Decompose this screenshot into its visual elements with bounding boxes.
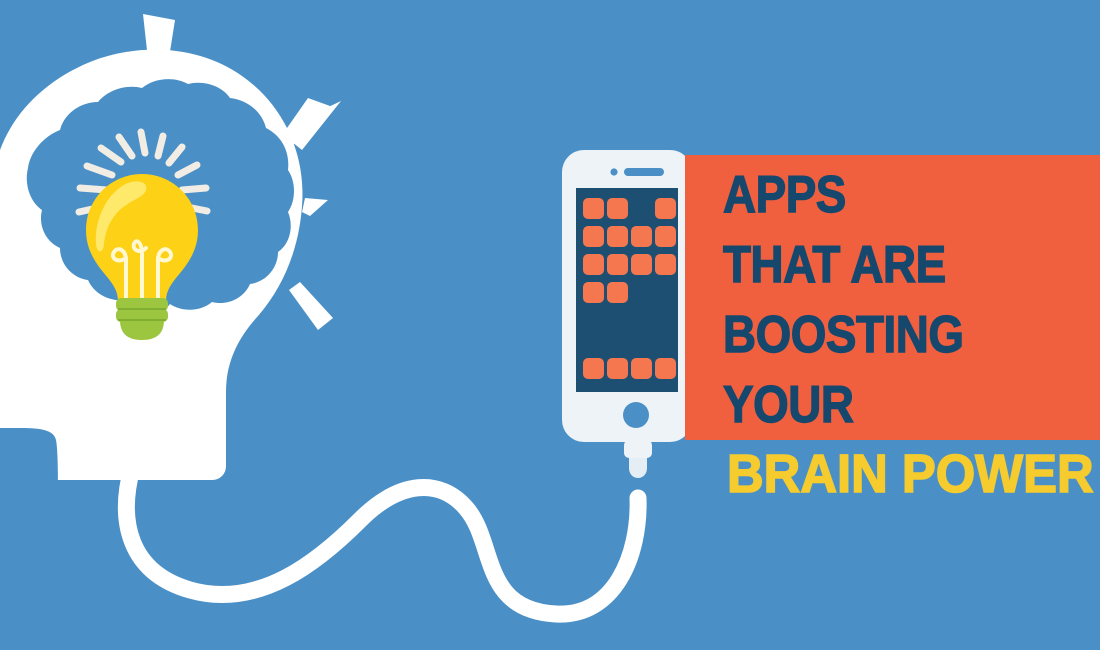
spark-ray-upper-right (280, 98, 330, 148)
app-icon[interactable] (583, 226, 604, 247)
headline-line-3: BOOSTING (723, 300, 1057, 370)
spark-ray-lower-right (289, 282, 333, 330)
app-icon-grid[interactable] (583, 198, 676, 303)
app-icon[interactable] (607, 226, 628, 247)
app-dock[interactable] (583, 358, 676, 379)
phone-body[interactable] (562, 150, 692, 442)
lightbulb-rays (79, 132, 207, 212)
spark-ray-top-left-small (72, 72, 96, 102)
headline: APPS THAT ARE BOOSTING YOUR (723, 160, 1057, 440)
app-icon[interactable] (655, 198, 676, 219)
spark-ray-top-large (143, 14, 175, 96)
spark-ray-right-large (292, 101, 341, 150)
headline-line-2: THAT ARE (723, 230, 1057, 300)
lightbulb-highlight (96, 181, 147, 251)
lightbulb-filament (113, 241, 171, 302)
idea-spark-rays (72, 14, 341, 330)
app-icon[interactable] (583, 198, 604, 219)
app-icon[interactable] (607, 254, 628, 275)
cable-collar (624, 440, 652, 458)
dock-icon[interactable] (583, 358, 604, 379)
subheadline: BRAIN POWER (727, 443, 1094, 505)
headline-line-1: APPS (723, 160, 1057, 230)
app-icon[interactable] (631, 254, 652, 275)
spark-ray-right-mid (302, 198, 328, 216)
poster-canvas: APPS THAT ARE BOOSTING YOUR BRAIN POWER (0, 0, 1100, 650)
app-icon[interactable] (583, 254, 604, 275)
app-icon[interactable] (655, 254, 676, 275)
cable-plug (629, 449, 647, 478)
lightbulb-glass (86, 174, 198, 302)
brain-shape (27, 79, 294, 328)
lightbulb-base (116, 298, 168, 340)
dock-icon[interactable] (607, 358, 628, 379)
head-silhouette (0, 50, 302, 480)
dock-icon[interactable] (655, 358, 676, 379)
app-icon[interactable] (631, 226, 652, 247)
cable-path (126, 468, 638, 614)
app-icon[interactable] (583, 282, 604, 303)
home-button[interactable] (623, 402, 649, 428)
app-icon[interactable] (607, 198, 628, 219)
headline-line-4: YOUR (723, 370, 1057, 440)
earpiece-speaker (624, 168, 664, 176)
dock-icon[interactable] (631, 358, 652, 379)
front-camera-icon (610, 168, 617, 175)
phone-screen[interactable] (576, 188, 678, 392)
app-icon[interactable] (655, 226, 676, 247)
app-icon[interactable] (607, 282, 628, 303)
